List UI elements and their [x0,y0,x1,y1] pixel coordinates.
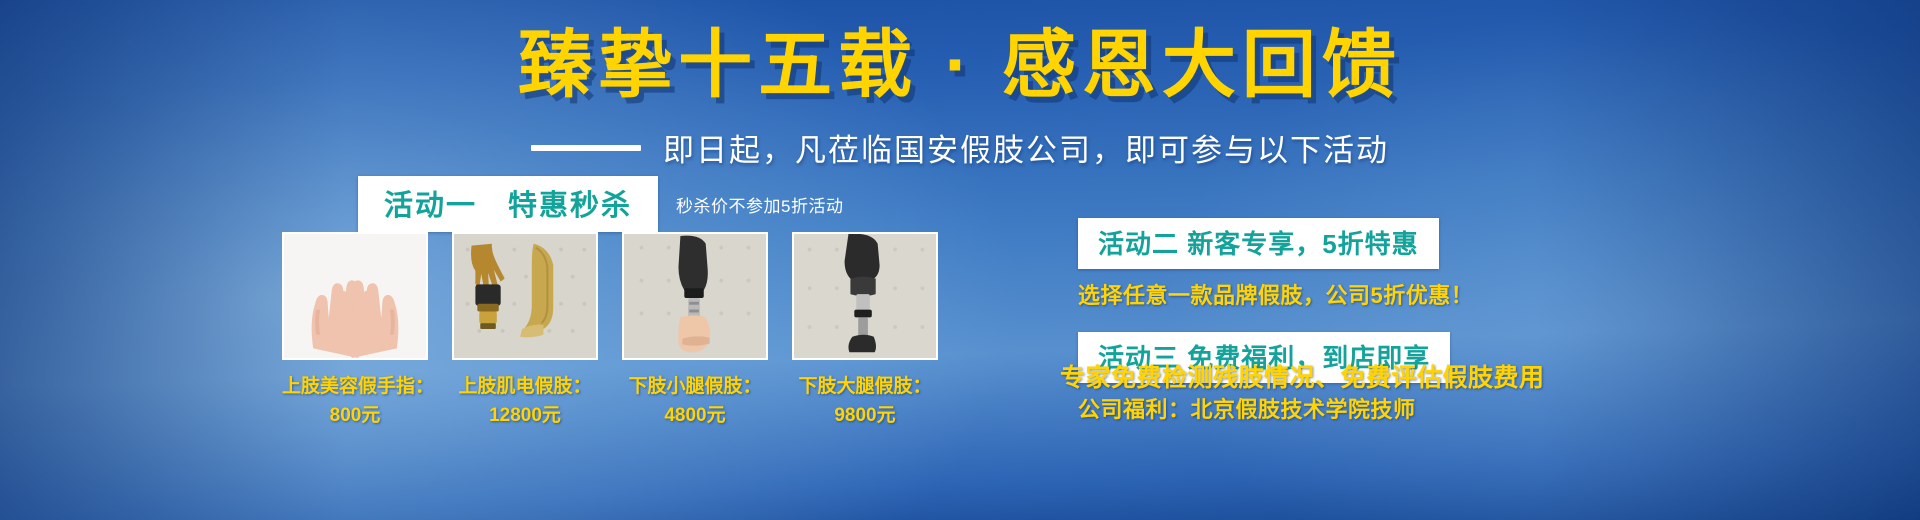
product-price: 9800元 [792,401,938,430]
product-price: 800元 [282,401,428,430]
product-item[interactable]: 上肢美容假手指： 800元 [282,232,428,431]
activity-one-header: 活动一 特惠秒杀 秒杀价不参加5折活动 [358,176,843,232]
product-item[interactable]: 下肢小腿假肢： 4800元 [622,232,768,431]
product-name: 上肢肌电假肢： [452,372,598,401]
hands-icon [282,232,428,360]
subtitle-rule [531,145,641,151]
product-price: 4800元 [622,401,768,430]
activity-three-detail: 公司福利：北京假肢技术学院技师 [1078,392,1598,424]
myoelectric-hand-icon [452,232,598,360]
above-knee-prosthesis-icon [792,232,938,360]
promo-banner: 臻挚十五载 · 感恩大回馈 即日起，凡莅临国安假肢公司，即可参与以下活动 活动一… [0,0,1920,520]
subtitle-row: 即日起，凡莅临国安假肢公司，即可参与以下活动 [0,125,1920,170]
activity-one-note: 秒杀价不参加5折活动 [676,192,843,217]
headline: 臻挚十五载 · 感恩大回馈 [0,28,1920,102]
headline-text: 臻挚十五载 · 感恩大回馈 [518,28,1402,102]
activity-two: 活动二 新客专享，5折特惠 选择任意一款品牌假肢，公司5折优惠！ [1078,218,1598,310]
activity-one-badge: 活动一 特惠秒杀 [358,176,658,232]
activity-two-badge: 活动二 新客专享，5折特惠 [1078,218,1439,269]
activity-two-detail: 选择任意一款品牌假肢，公司5折优惠！ [1078,278,1598,310]
product-price: 12800元 [452,401,598,430]
product-name: 下肢小腿假肢： [622,372,768,401]
product-item[interactable]: 下肢大腿假肢： 9800元 [792,232,938,431]
product-item[interactable]: 上肢肌电假肢： 12800元 [452,232,598,431]
product-list: 上肢美容假手指： 800元 [282,232,938,431]
product-name: 下肢大腿假肢： [792,372,938,401]
below-knee-prosthesis-icon [622,232,768,360]
product-name: 上肢美容假手指： [282,372,428,401]
activity-three-footer: 专家免费检测残肢情况、免费评估假肢费用 [1060,358,1545,394]
subtitle-text: 即日起，凡莅临国安假肢公司，即可参与以下活动 [663,125,1389,170]
